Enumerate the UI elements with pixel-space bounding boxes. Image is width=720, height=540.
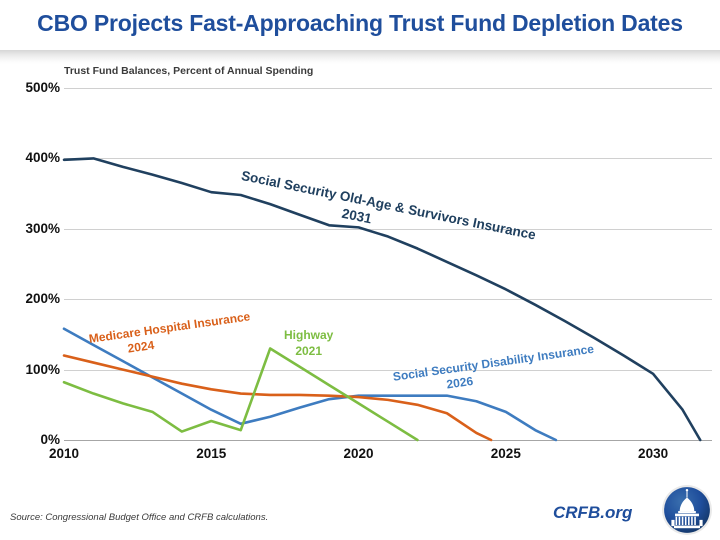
- y-tick-label-500: 500%: [6, 80, 60, 95]
- page-title: CBO Projects Fast-Approaching Trust Fund…: [0, 10, 720, 37]
- series-label-highway-year: 2021: [284, 344, 333, 358]
- chart-subtitle: Trust Fund Balances, Percent of Annual S…: [64, 65, 313, 77]
- y-tick-label-200: 200%: [6, 291, 60, 306]
- capitol-dome-icon: [661, 484, 713, 536]
- x-tick-label-2015: 2015: [196, 446, 226, 461]
- source-note: Source: Congressional Budget Office and …: [10, 512, 268, 523]
- x-axis-labels: 20102015202020252030: [64, 446, 712, 468]
- y-axis-labels: 0%100%200%300%400%500%: [0, 88, 60, 440]
- series-label-highway-name: Highway: [284, 328, 333, 342]
- y-tick-label-300: 300%: [6, 221, 60, 236]
- x-tick-label-2010: 2010: [49, 446, 79, 461]
- x-tick-label-2020: 2020: [344, 446, 374, 461]
- series-label-highway: Highway 2021: [284, 328, 333, 358]
- y-tick-label-0: 0%: [6, 432, 60, 447]
- x-tick-label-2025: 2025: [491, 446, 521, 461]
- y-tick-label-400: 400%: [6, 150, 60, 165]
- gridline-0: [64, 440, 712, 441]
- x-tick-label-2030: 2030: [638, 446, 668, 461]
- crfb-wordmark[interactable]: CRFB.org: [553, 503, 632, 523]
- title-band: CBO Projects Fast-Approaching Trust Fund…: [0, 0, 720, 52]
- title-divider: [0, 50, 720, 64]
- chart-page: CBO Projects Fast-Approaching Trust Fund…: [0, 0, 720, 540]
